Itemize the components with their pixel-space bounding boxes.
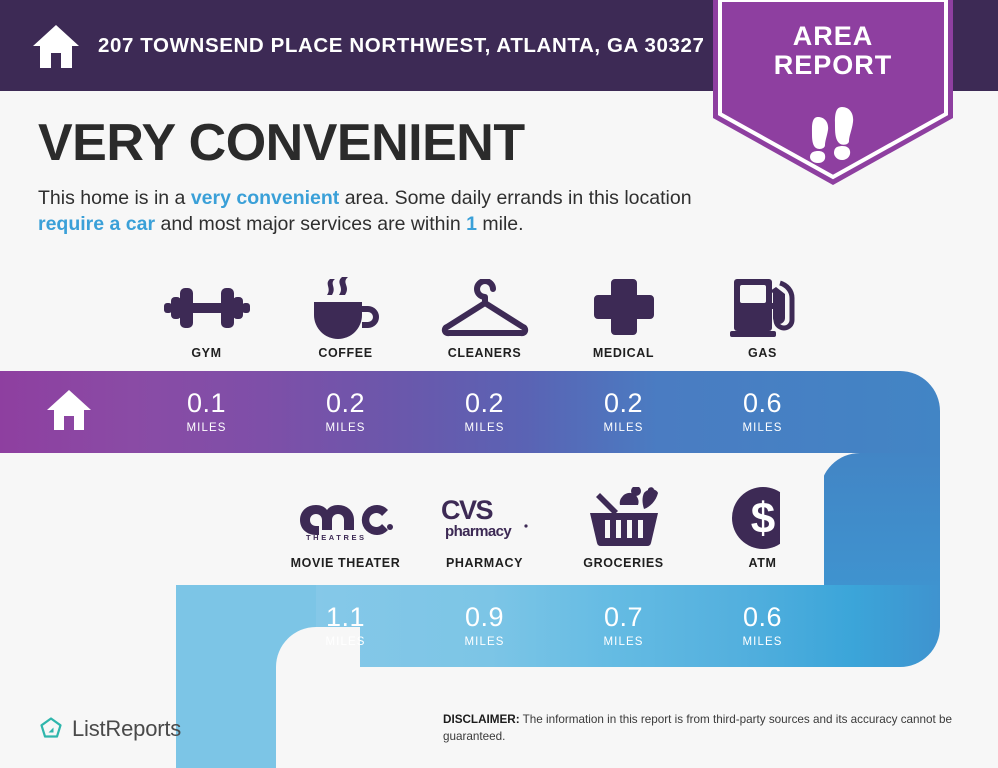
medical-cross-icon	[592, 277, 656, 339]
distance-cell-atm: 0.6MILES	[693, 585, 832, 667]
page-subtitle: This home is in a very convenient area. …	[38, 185, 703, 238]
distance-value: 0.6	[743, 604, 782, 631]
disclaimer-text: The information in this report is from t…	[443, 713, 952, 743]
distance-value: 0.1	[187, 390, 226, 417]
icon-cell-cleaners: CLEANERS	[415, 265, 554, 360]
distance-cell-gas: 0.6MILES	[693, 371, 832, 453]
distance-cell-pharmacy: 0.9MILES	[415, 585, 554, 667]
listreports-house-icon	[38, 716, 64, 742]
distance-cell-movie-theater: 1.1MILES	[276, 585, 415, 667]
home-icon	[30, 20, 82, 72]
area-report-badge: AREA REPORT	[713, 0, 953, 185]
distance-value: 0.2	[326, 390, 365, 417]
row1-home-icon	[45, 386, 93, 434]
icon-cell-coffee: COFFEE	[276, 265, 415, 360]
distance-value: 0.9	[465, 604, 504, 631]
listreports-logo[interactable]: ListReports	[38, 716, 181, 742]
subtitle-highlight: 1	[466, 213, 477, 235]
distance-unit: MILES	[325, 636, 365, 648]
icon-label: GYM	[191, 346, 221, 360]
hanger-icon	[439, 277, 531, 339]
distance-unit: MILES	[186, 422, 226, 434]
distance-cell-medical: 0.2MILES	[554, 371, 693, 453]
distance-value: 0.2	[465, 390, 504, 417]
distance-unit: MILES	[742, 422, 782, 434]
disclaimer-label: DISCLAIMER:	[443, 713, 520, 726]
icon-row-1: GYM COFFEE CLEANERSMEDICAL GAS	[137, 265, 832, 360]
distance-unit: MILES	[603, 636, 643, 648]
distance-unit: MILES	[325, 422, 365, 434]
distance-value: 0.7	[604, 604, 643, 631]
value-row-2: 1.1MILES0.9MILES0.7MILES0.6MILES	[276, 585, 832, 667]
distance-unit: MILES	[464, 422, 504, 434]
subtitle-text: area. Some daily errands in this locatio…	[339, 187, 691, 209]
subtitle-highlight: very convenient	[191, 187, 339, 209]
subtitle-text: and most major services are within	[155, 213, 466, 235]
icon-cell-medical: MEDICAL	[554, 265, 693, 360]
distance-value: 1.1	[326, 604, 365, 631]
disclaimer: DISCLAIMER: The information in this repo…	[443, 712, 973, 745]
dumbbell-icon	[162, 277, 252, 339]
distance-unit: MILES	[603, 422, 643, 434]
distance-cell-cleaners: 0.2MILES	[415, 371, 554, 453]
distance-cell-groceries: 0.7MILES	[554, 585, 693, 667]
subtitle-highlight: require a car	[38, 213, 155, 235]
subtitle-text: This home is in a	[38, 187, 191, 209]
value-row-1: 0.1MILES0.2MILES0.2MILES0.2MILES0.6MILES	[137, 371, 832, 453]
icon-label: GAS	[748, 346, 777, 360]
distance-value: 0.6	[743, 390, 782, 417]
distance-cell-gym: 0.1MILES	[137, 371, 276, 453]
icon-label: COFFEE	[318, 346, 372, 360]
distance-value: 0.2	[604, 390, 643, 417]
page-title: VERY CONVENIENT	[38, 116, 718, 171]
property-address: 207 TOWNSEND PLACE NORTHWEST, ATLANTA, G…	[98, 34, 704, 58]
listreports-logo-text: ListReports	[72, 716, 181, 742]
gas-pump-icon	[728, 277, 798, 339]
distance-unit: MILES	[742, 636, 782, 648]
title-block: VERY CONVENIENT This home is in a very c…	[38, 116, 718, 238]
distance-cell-coffee: 0.2MILES	[276, 371, 415, 453]
icon-label: CLEANERS	[448, 346, 522, 360]
icon-cell-gym: GYM	[137, 265, 276, 360]
icon-label: MEDICAL	[593, 346, 654, 360]
icon-cell-gas: GAS	[693, 265, 832, 360]
coffee-cup-icon	[306, 277, 386, 339]
distance-unit: MILES	[464, 636, 504, 648]
subtitle-text: mile.	[477, 213, 524, 235]
